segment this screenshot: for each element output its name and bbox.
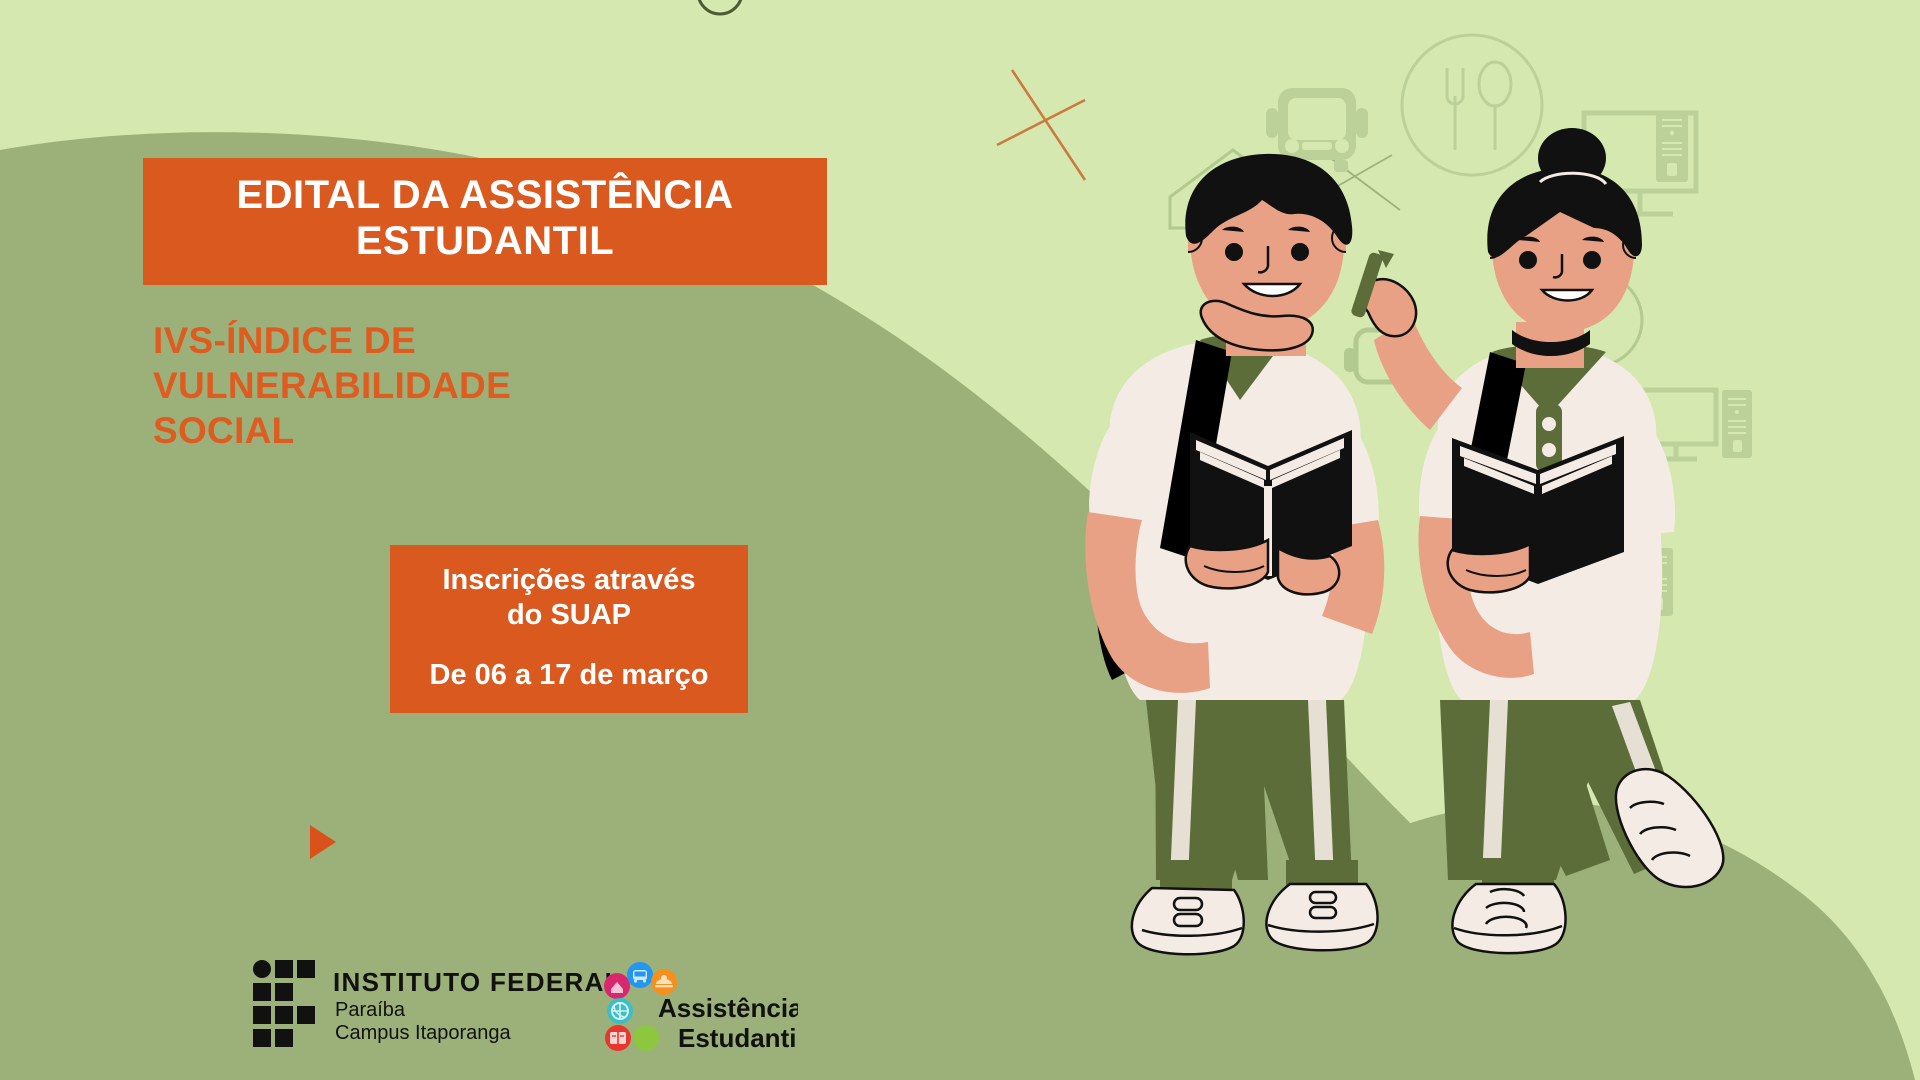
computer-tower-icon xyxy=(1656,111,1688,182)
ae-dot-icon xyxy=(633,1025,659,1051)
ae-sports-icon xyxy=(607,998,633,1024)
assistencia-estudantil-logo: Assistência Estudantil xyxy=(598,962,798,1058)
computer-tower-icon-2 xyxy=(1722,390,1752,458)
play-triangle-icon xyxy=(310,825,336,859)
headline-text: EDITAL DA ASSISTÊNCIA ESTUDANTIL xyxy=(161,172,809,265)
if-line-institute: INSTITUTO FEDERAL xyxy=(333,969,622,995)
ae-house-icon xyxy=(604,973,630,999)
ae-line-estudantil: Estudantil xyxy=(678,1023,798,1053)
instituto-federal-text: INSTITUTO FEDERAL Paraíba Campus Itapora… xyxy=(333,969,622,1043)
ae-book-icon xyxy=(605,1025,631,1051)
enrollment-period-text: De 06 a 17 de março xyxy=(400,658,738,693)
instituto-federal-logo: INSTITUTO FEDERAL Paraíba Campus Itapora… xyxy=(253,960,622,1052)
subtitle-text: IVS-ÍNDICE DE VULNERABILIDADE SOCIAL xyxy=(153,318,673,453)
headline-box: EDITAL DA ASSISTÊNCIA ESTUDANTIL xyxy=(143,158,827,285)
poster-canvas: EDITAL DA ASSISTÊNCIA ESTUDANTIL IVS-ÍND… xyxy=(0,0,1920,1080)
ae-line-assistencia: Assistência xyxy=(658,993,798,1023)
enrollment-info-box: Inscrições através do SUAP De 06 a 17 de… xyxy=(390,545,748,713)
assistencia-estudantil-art: Assistência Estudantil xyxy=(598,962,798,1058)
enrollment-method-text: Inscrições através do SUAP xyxy=(400,563,738,634)
if-line-campus: Campus Itaporanga xyxy=(335,1023,622,1043)
if-line-state: Paraíba xyxy=(335,1000,622,1020)
instituto-federal-mark xyxy=(253,960,319,1052)
ae-food-icon xyxy=(651,969,677,995)
ae-bus-icon xyxy=(627,962,653,988)
